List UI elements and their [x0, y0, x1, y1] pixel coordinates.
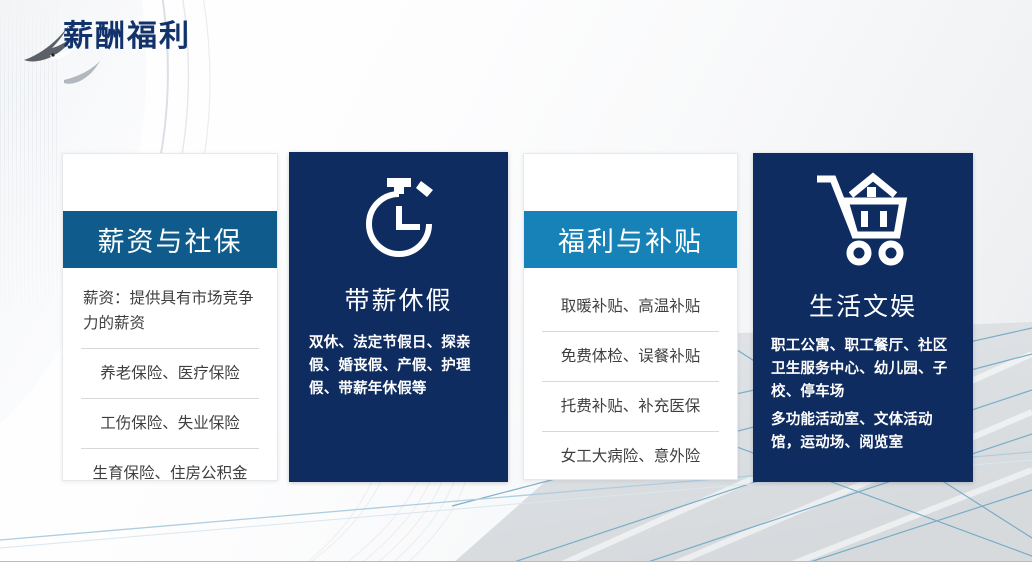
card-salary-social-insurance[interactable]: 薪资与社保 薪资：提供具有市场竞争力的薪资 养老保险、医疗保险 工伤保险、失业保… [62, 153, 278, 481]
slide-canvas: 薪酬福利 薪资与社保 薪资：提供具有市场竞争力的薪资 养老保险、医疗保险 工伤保… [0, 0, 1032, 564]
list-item: 免费体检、误餐补贴 [542, 332, 719, 382]
page-title: 薪酬福利 [63, 18, 191, 56]
card-life-and-recreation[interactable]: 生活文娱 职工公寓、职工餐厅、社区卫生服务中心、幼儿园、子校、停车场 多功能活动… [753, 153, 973, 482]
card-banner-salary: 薪资与社保 [63, 211, 277, 268]
card-body-paid-leave: 双休、法定节假日、探亲假、婚丧假、产假、护理假、带薪年休假等 [309, 332, 491, 401]
card-banner-label: 薪资与社保 [98, 220, 243, 259]
list-item: 取暖补贴、高温补贴 [542, 282, 719, 332]
benefit-list-salary: 薪资：提供具有市场竞争力的薪资 养老保险、医疗保险 工伤保险、失业保险 生育保险… [81, 276, 259, 498]
stopwatch-icon [289, 172, 508, 268]
card-body-life-2: 多功能活动室、文体活动馆，运动场、阅览室 [771, 409, 961, 455]
list-item: 薪资：提供具有市场竞争力的薪资 [81, 276, 259, 349]
shopping-cart-icon [753, 169, 973, 269]
benefit-list-subsidies: 取暖补贴、高温补贴 免费体检、误餐补贴 托费补贴、补充医保 女工大病险、意外险 [542, 282, 719, 481]
list-item: 女工大病险、意外险 [542, 432, 719, 481]
card-benefits-subsidies[interactable]: 福利与补贴 取暖补贴、高温补贴 免费体检、误餐补贴 托费补贴、补充医保 女工大病… [523, 153, 738, 480]
list-item: 养老保险、医疗保险 [81, 349, 259, 399]
card-banner-label: 福利与补贴 [558, 220, 703, 259]
card-banner-benefits: 福利与补贴 [524, 211, 737, 268]
card-body-life-1: 职工公寓、职工餐厅、社区卫生服务中心、幼儿园、子校、停车场 [771, 335, 959, 404]
card-paid-leave[interactable]: 带薪休假 双休、法定节假日、探亲假、婚丧假、产假、护理假、带薪年休假等 [289, 152, 508, 482]
list-item: 生育保险、住房公积金 [81, 449, 259, 498]
list-item: 工伤保险、失业保险 [81, 399, 259, 449]
list-item: 托费补贴、补充医保 [542, 382, 719, 432]
card-title-paid-leave: 带薪休假 [289, 285, 508, 317]
card-title-life: 生活文娱 [753, 291, 973, 323]
